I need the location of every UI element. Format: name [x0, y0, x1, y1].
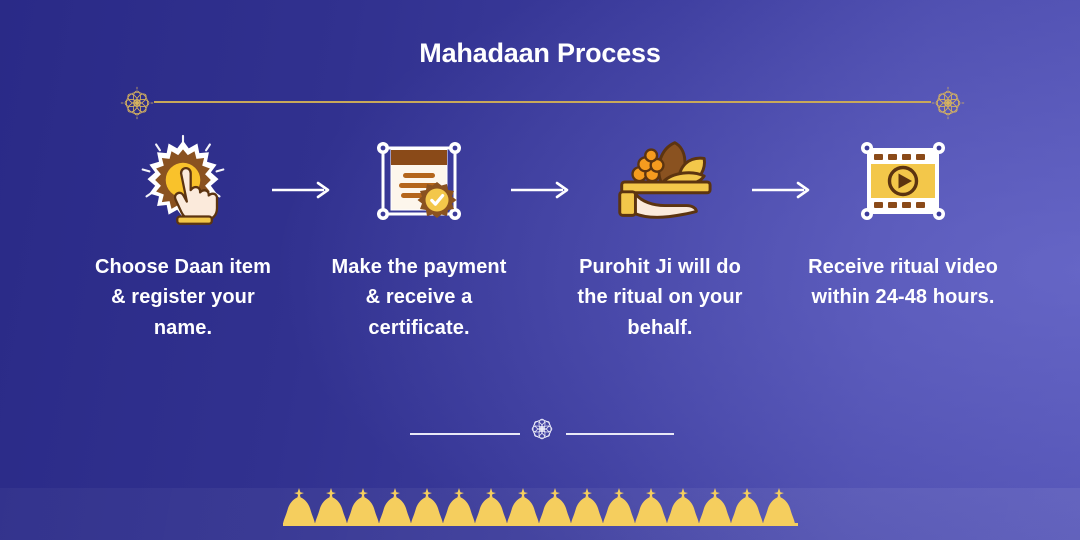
video-film-play-icon [808, 133, 998, 228]
divider-line-left [410, 433, 520, 435]
step-caption: Choose Daan item & register your name. [88, 252, 278, 343]
mandala-icon [120, 86, 154, 120]
hand-tap-sun-icon [88, 133, 278, 228]
process-step-3: Purohit Ji will do the ritual on your be… [565, 133, 755, 343]
arrow-right-icon [750, 179, 812, 201]
step-caption: Receive ritual video within 24-48 hours. [808, 252, 998, 313]
temple-dome-border [283, 484, 798, 528]
process-step-4: Receive ritual video within 24-48 hours. [808, 133, 998, 313]
divider-line-right [566, 433, 674, 435]
mandala-icon [527, 414, 557, 444]
process-step-1: Choose Daan item & register your name. [88, 133, 278, 343]
top-divider [120, 86, 965, 120]
page-title: Mahadaan Process [0, 38, 1080, 69]
mandala-icon [931, 86, 965, 120]
step-caption: Purohit Ji will do the ritual on your be… [565, 252, 755, 343]
offering-tray-hand-icon [565, 133, 755, 228]
top-divider-line [154, 101, 931, 103]
certificate-seal-icon [324, 133, 514, 228]
step-caption: Make the payment & receive a certificate… [324, 252, 514, 343]
process-step-2: Make the payment & receive a certificate… [324, 133, 514, 343]
arrow-right-icon [270, 179, 332, 201]
arrow-right-icon [509, 179, 571, 201]
process-steps: Choose Daan item & register your name. [0, 133, 1080, 363]
